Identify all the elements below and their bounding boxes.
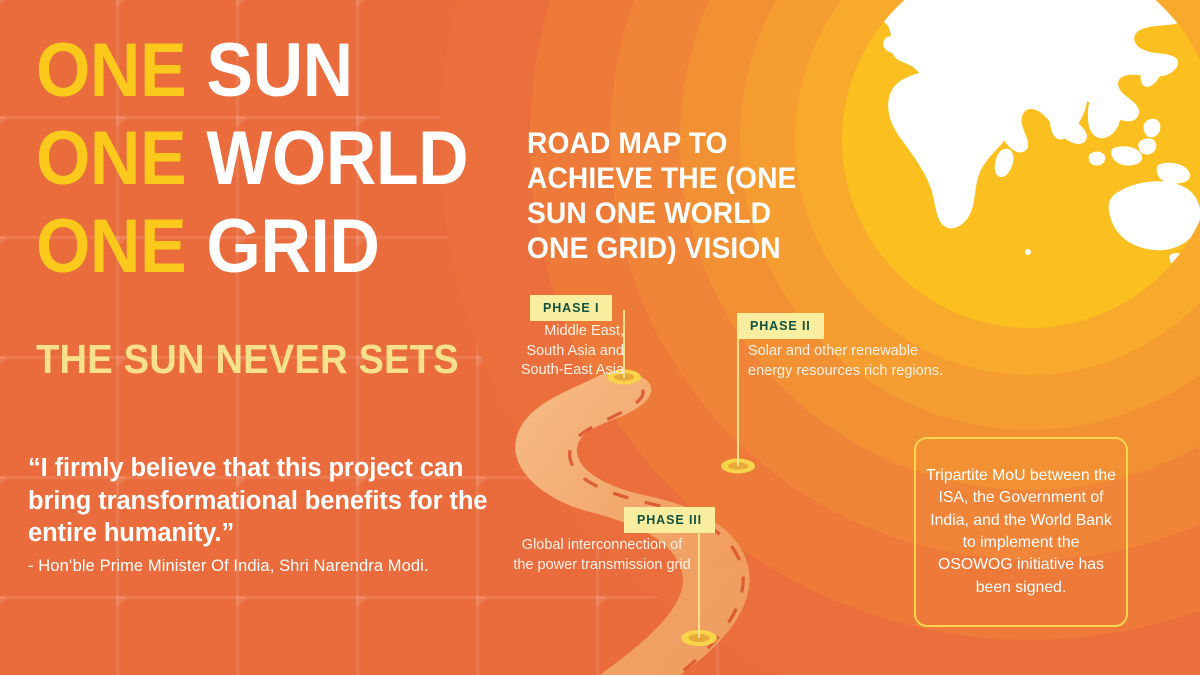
phase-2-badge[interactable]: PHASE II [737,313,824,339]
infographic-canvas: ONESUN ONEWORLD ONEGRID THE SUN NEVER SE… [0,0,1200,675]
phase-1-badge[interactable]: PHASE I [530,295,612,321]
phase-1-note: Middle East, South Asia and South-East A… [479,322,624,381]
phase-3-note: Global interconnection of the power tran… [505,536,699,575]
mou-panel: Tripartite MoU between the ISA, the Gove… [914,437,1128,627]
road-lower-flare [600,566,749,675]
phase-2-note: Solar and other renewable energy resourc… [748,342,948,381]
mou-text: Tripartite MoU between the ISA, the Gove… [926,465,1116,600]
phase-2-connector [737,333,739,466]
phase-3-badge[interactable]: PHASE III [624,507,715,533]
